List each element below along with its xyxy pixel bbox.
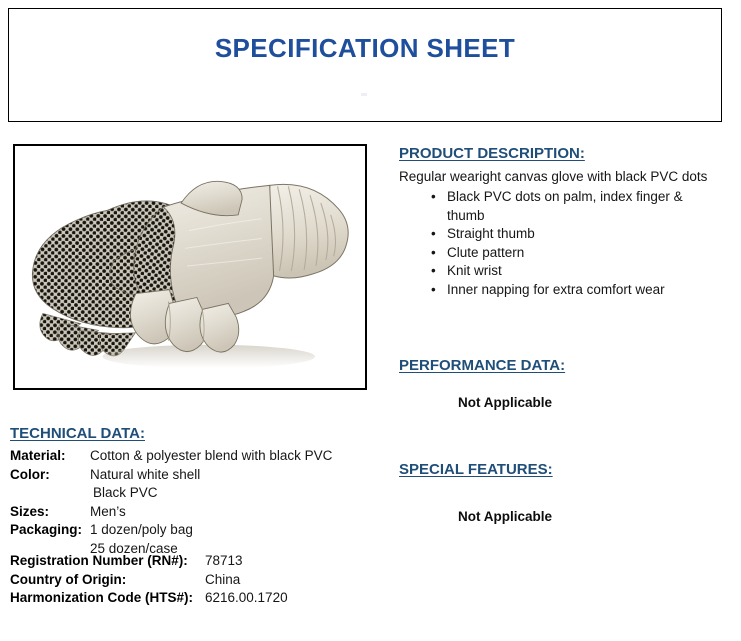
list-item: • Black PVC dots on palm, index finger &…	[399, 188, 697, 225]
table-row: Registration Number (RN#): 78713	[10, 552, 380, 571]
list-item-label: Inner napping for extra comfort wear	[447, 281, 729, 300]
performance-data-heading: PERFORMANCE DATA:	[399, 357, 565, 374]
special-features-value: Not Applicable	[458, 509, 552, 524]
row-label: Color:	[10, 466, 90, 485]
product-description-intro: Regular wearight canvas glove with black…	[399, 169, 707, 184]
row-label: Country of Origin:	[10, 571, 205, 590]
list-item-label: Straight thumb	[447, 225, 729, 244]
list-item: • Clute pattern	[399, 244, 729, 263]
technical-data-table: Material: Cotton & polyester blend with …	[10, 447, 380, 559]
list-item-label: Clute pattern	[447, 244, 729, 263]
row-label: Material:	[10, 447, 90, 466]
product-description-heading: PRODUCT DESCRIPTION:	[399, 145, 585, 162]
bullet-icon: •	[431, 225, 436, 244]
list-item-label: Knit wrist	[447, 262, 729, 281]
special-features-heading: SPECIAL FEATURES:	[399, 461, 553, 478]
table-row: Harmonization Code (HTS#): 6216.00.1720	[10, 589, 380, 608]
table-row: Sizes: Men’s	[10, 503, 380, 522]
row-label: Harmonization Code (HTS#):	[10, 589, 205, 608]
row-value: 1 dozen/poly bag	[90, 521, 193, 540]
row-value: 6216.00.1720	[205, 589, 288, 608]
table-row: Material: Cotton & polyester blend with …	[10, 447, 380, 466]
scan-artifact	[361, 93, 367, 96]
table-row: Color: Natural white shell	[10, 466, 380, 485]
row-value: Cotton & polyester blend with black PVC	[90, 447, 332, 466]
list-item: • Inner napping for extra comfort wear	[399, 281, 729, 300]
bullet-icon: •	[431, 281, 436, 300]
row-value: 78713	[205, 552, 243, 571]
row-value: Men’s	[90, 503, 126, 522]
row-label: Sizes:	[10, 503, 90, 522]
glove-pair-illustration	[15, 146, 365, 388]
bullet-icon: •	[431, 188, 436, 207]
title-banner-box: SPECIFICATION SHEET	[8, 8, 722, 122]
table-row: Black PVC	[10, 484, 380, 503]
performance-data-value: Not Applicable	[458, 395, 552, 410]
list-item-label: Black PVC dots on palm, index finger & t…	[447, 188, 697, 225]
product-description-bullet-list: • Black PVC dots on palm, index finger &…	[399, 188, 729, 300]
row-label: Registration Number (RN#):	[10, 552, 205, 571]
row-label: Packaging:	[10, 521, 90, 540]
bullet-icon: •	[431, 262, 436, 281]
table-row: Packaging: 1 dozen/poly bag	[10, 521, 380, 540]
bullet-icon: •	[431, 244, 436, 263]
row-value: Black PVC	[90, 484, 158, 503]
row-value: China	[205, 571, 240, 590]
row-value: Natural white shell	[90, 466, 200, 485]
technical-data-heading: TECHNICAL DATA:	[10, 425, 145, 442]
list-item: • Knit wrist	[399, 262, 729, 281]
table-row: Country of Origin: China	[10, 571, 380, 590]
technical-data-table-bottom: Registration Number (RN#): 78713 Country…	[10, 552, 380, 608]
page-title: SPECIFICATION SHEET	[9, 33, 721, 64]
product-image-box	[13, 144, 367, 390]
list-item: • Straight thumb	[399, 225, 729, 244]
